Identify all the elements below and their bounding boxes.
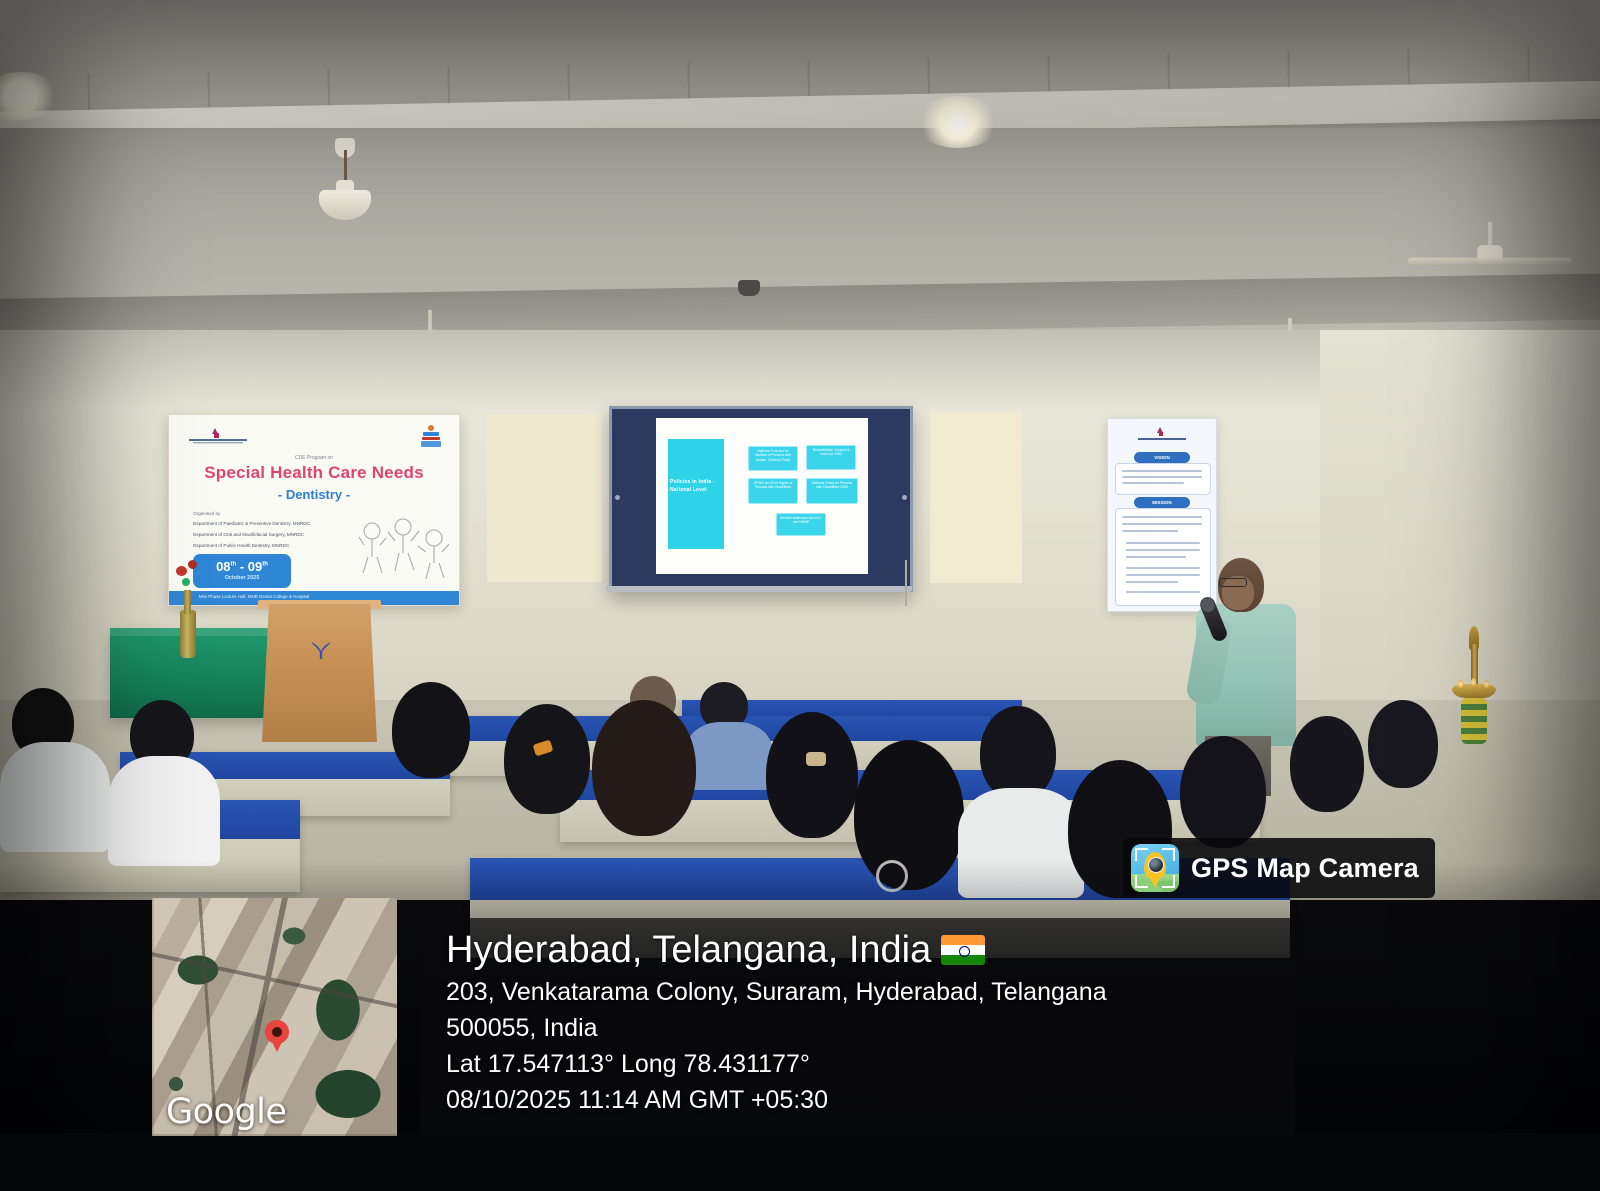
google-watermark: Google <box>166 1092 286 1132</box>
slide-box-4: National Policy for Persons with Disabil… <box>806 478 858 504</box>
poster-section-vision: VISION <box>1134 452 1190 463</box>
banner-date-day2: 09 <box>248 559 262 574</box>
rose-flower-2 <box>188 560 197 569</box>
projected-slide: Policies in India - National Level Natio… <box>656 418 868 574</box>
location-title: Hyderabad, Telangana, India <box>446 926 931 974</box>
brass-vase-neck <box>184 590 191 614</box>
bottom-black-bar <box>0 1133 1600 1191</box>
whiteboard-cable <box>905 560 907 606</box>
coordinates: Lat 17.547113° Long 78.431177° <box>446 1046 1285 1082</box>
photo-canvas: CDE Program on Special Health Care Needs… <box>0 0 1600 1191</box>
college-logo-poster-icon <box>1136 427 1188 443</box>
banner-department-1: Department of Paediatric & Preventive De… <box>193 521 310 526</box>
banner-date-sup2: th <box>262 562 268 568</box>
banner-date-day1: 08 <box>216 559 230 574</box>
brass-vase <box>180 610 196 658</box>
rose-flower-1 <box>176 566 187 576</box>
banner-date-separator: - <box>240 559 244 574</box>
emblem-logo-right-icon <box>419 423 443 451</box>
banner-department-2: Department of Oral and Maxillofacial Sur… <box>193 532 304 537</box>
hair-clip-icon <box>806 752 826 766</box>
banner-subtitle: - Dentistry - <box>169 487 459 502</box>
banner-title: Special Health Care Needs <box>169 463 459 483</box>
board-clip-right <box>902 495 907 500</box>
wall-panel-left <box>487 414 602 582</box>
wooden-podium <box>262 604 377 742</box>
gps-map-camera-badge: GPS Map Camera <box>1123 838 1435 898</box>
leaf-1 <box>182 578 190 586</box>
address-line-1: 203, Venkatarama Colony, Suraram, Hydera… <box>446 974 1285 1010</box>
board-clip-left <box>615 495 620 500</box>
wall-panel-right <box>930 411 1022 583</box>
india-flag-icon <box>941 935 985 965</box>
slide-box-1: National Trust Act for Welfare of Person… <box>748 446 798 471</box>
banner-date-month: October 2025 <box>193 575 291 581</box>
children-lineart-icon <box>355 515 451 593</box>
banner-date-range: 08th - 09th <box>193 559 291 574</box>
banner-organised-label: Organised by <box>193 511 220 516</box>
glasses-icon <box>1219 578 1247 587</box>
gps-map-camera-label: GPS Map Camera <box>1191 853 1419 884</box>
slide-box-2: Rehabilitation Council of India Act 1992 <box>806 445 856 470</box>
poster-mission-card <box>1115 508 1211 606</box>
marigold-garland <box>1461 698 1487 744</box>
event-banner: CDE Program on Special Health Care Needs… <box>168 414 460 606</box>
map-thumbnail[interactable]: Google <box>152 898 397 1136</box>
banner-venue: Mini Phase Lecture Hall, MNR Dental Coll… <box>199 594 309 599</box>
slide-sidebar-text: Policies in India - National Level <box>670 478 722 494</box>
slide-sidebar <box>668 439 724 549</box>
whiteboard-tray <box>606 586 912 592</box>
poster-vision-card <box>1115 463 1211 495</box>
gps-map-camera-icon <box>1131 844 1179 892</box>
dome-camera-icon <box>738 280 760 296</box>
banner-date-badge: 08th - 09th October 2025 <box>193 554 291 588</box>
banner-pretitle: CDE Program on <box>169 455 459 461</box>
gps-info-panel: Hyderabad, Telangana, India 203, Venkata… <box>420 918 1295 1136</box>
slide-box-3: RPWD Act 2016 Rights of Persons with Dis… <box>748 478 798 504</box>
vision-mission-poster: VISION MISSION <box>1107 418 1217 612</box>
brass-lamp-diya <box>1452 632 1496 752</box>
banner-department-3: Department of Public Health Dentistry, M… <box>193 543 289 548</box>
college-logo-left-icon <box>187 427 249 445</box>
location-title-row: Hyderabad, Telangana, India <box>446 926 1285 974</box>
location-pin-icon <box>265 1020 289 1050</box>
ceiling-light-glow-center <box>915 96 1001 148</box>
banner-date-sup1: th <box>231 562 237 568</box>
poster-section-mission: MISSION <box>1134 497 1190 508</box>
address-line-2: 500055, India <box>446 1010 1285 1046</box>
slide-box-5: Mental Healthcare Act 2017 and NMHP <box>776 513 826 536</box>
podium-logo-icon <box>310 640 332 660</box>
interactive-whiteboard: Policies in India - National Level Natio… <box>609 406 913 592</box>
timestamp: 08/10/2025 11:14 AM GMT +05:30 <box>446 1082 1285 1118</box>
